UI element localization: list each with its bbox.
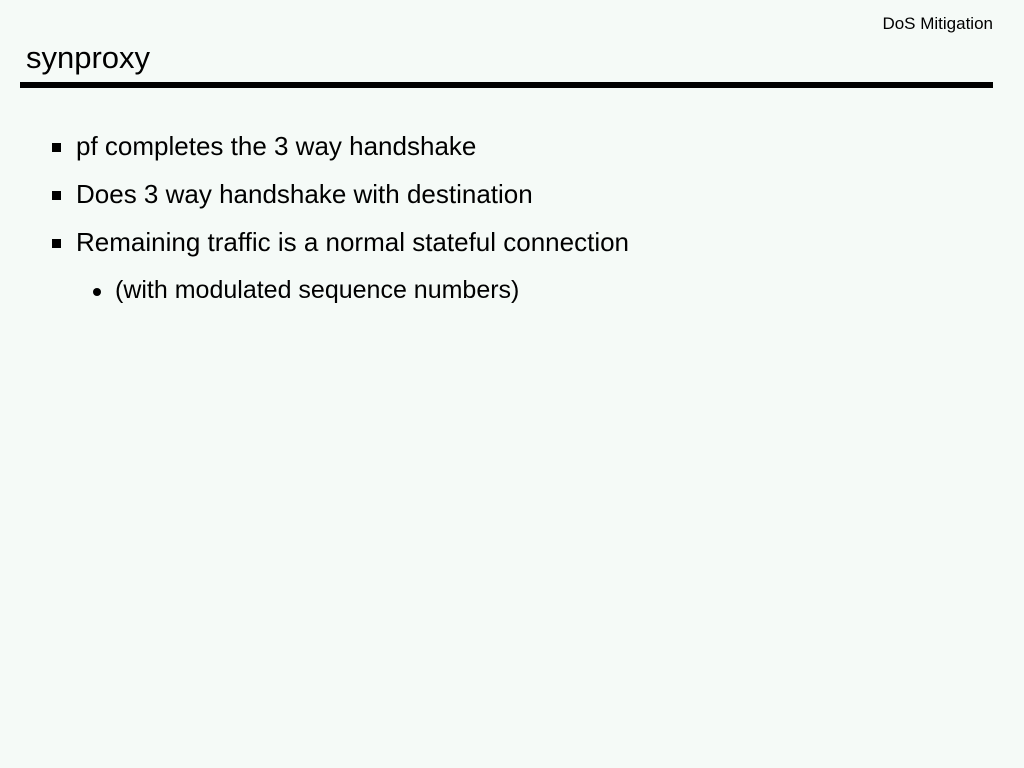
list-item-label: Remaining traffic is a normal stateful c…	[76, 222, 1024, 262]
list-item: pf completes the 3 way handshake	[0, 126, 1024, 174]
list-item-label: (with modulated sequence numbers)	[115, 270, 1024, 310]
square-bullet-icon	[52, 143, 61, 152]
slide-header-label: DoS Mitigation	[20, 14, 993, 34]
list-item-label: Does 3 way handshake with destination	[76, 174, 1024, 214]
round-bullet-icon	[93, 288, 101, 296]
bullet-list: pf completes the 3 way handshake Does 3 …	[0, 126, 1024, 318]
list-item: (with modulated sequence numbers)	[0, 270, 1024, 318]
list-item-label: pf completes the 3 way handshake	[76, 126, 1024, 166]
list-item: Remaining traffic is a normal stateful c…	[0, 222, 1024, 270]
slide-canvas: DoS Mitigation synproxy pf completes the…	[0, 0, 1024, 768]
title-divider	[20, 82, 993, 88]
page-title: synproxy	[26, 40, 150, 76]
square-bullet-icon	[52, 191, 61, 200]
square-bullet-icon	[52, 239, 61, 248]
list-item: Does 3 way handshake with destination	[0, 174, 1024, 222]
